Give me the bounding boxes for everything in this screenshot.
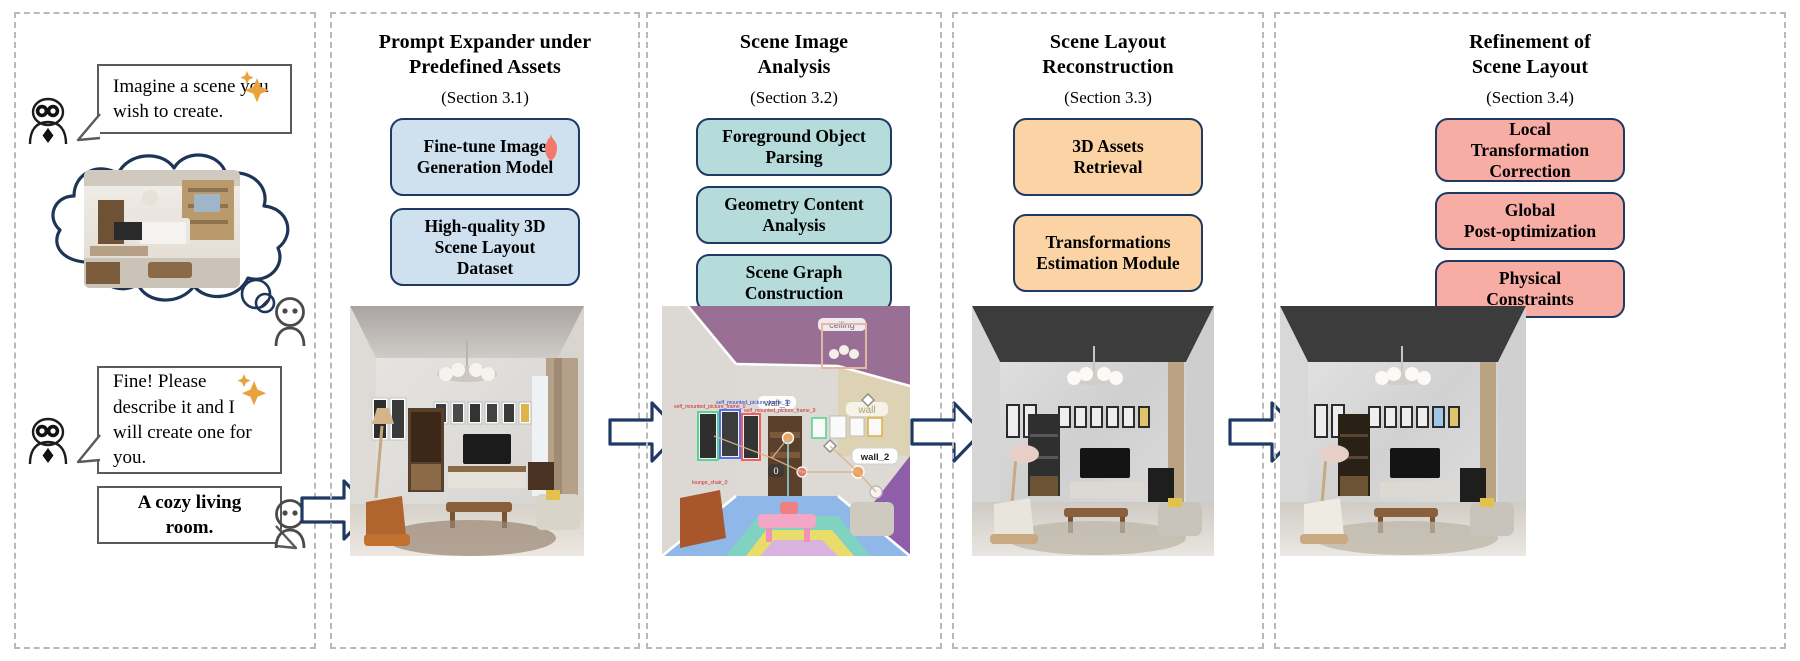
box-fine-tune-image-generation-model[interactable]: Fine-tune Image Generation Model	[390, 118, 580, 196]
box-label-line1: Transformations	[1045, 232, 1170, 252]
box-label-line2: Scene Layout	[435, 237, 536, 257]
box-local-transformation-correction[interactable]: Local Transformation Correction	[1435, 118, 1625, 182]
box-label-line1: Foreground Object	[722, 126, 866, 146]
box-label-line2: Retrieval	[1074, 157, 1143, 177]
panel-5-title: Refinement of Scene Layout	[1276, 30, 1784, 79]
panel-3-box-stack: Foreground Object Parsing Geometry Conte…	[648, 118, 940, 312]
box-label-line1: Fine-tune Image	[424, 136, 547, 156]
svg-text:wall: wall	[857, 405, 875, 416]
bubble-cozy-living-room-text: A cozy living room.	[113, 490, 266, 541]
panel-3-title: Scene Image Analysis	[648, 30, 940, 79]
sparkle-icon-1	[231, 69, 273, 109]
panel-prompt-expander: Prompt Expander under Predefined Assets …	[330, 12, 640, 649]
panel-2-title-line1: Prompt Expander under	[379, 31, 592, 53]
box-foreground-object-parsing[interactable]: Foreground Object Parsing	[696, 118, 892, 176]
bubble-cozy-living-room: A cozy living room.	[97, 486, 282, 544]
imagined-scene-thumbnail	[84, 170, 240, 288]
panel-4-title: Scene Layout Reconstruction	[954, 30, 1262, 79]
panel-5-title-line2: Scene Layout	[1472, 56, 1588, 78]
panel-3-title-line2: Analysis	[757, 56, 830, 78]
box-label-line1: Geometry Content	[724, 194, 863, 214]
box-label-line1: Scene Graph	[746, 262, 843, 282]
box-global-post-optimization[interactable]: Global Post-optimization	[1435, 192, 1625, 250]
assistant-bot-icon	[22, 86, 74, 148]
panel-5-box-stack: Local Transformation Correction Global P…	[1276, 118, 1784, 318]
assistant-bot-icon-2	[22, 406, 74, 468]
pipeline-figure: Imagine a scene you wish to create.	[0, 0, 1800, 661]
panel-2-box-stack: Fine-tune Image Generation Model High-qu…	[332, 118, 638, 286]
box-label-line1: Physical	[1499, 268, 1561, 288]
svg-text:0: 0	[773, 466, 778, 476]
svg-text:self_mounted_picture_frame_9: self_mounted_picture_frame_9	[744, 408, 816, 414]
box-label-line2: Parsing	[765, 147, 822, 167]
refined-scene-render	[1280, 306, 1526, 556]
box-geometry-content-analysis[interactable]: Geometry Content Analysis	[696, 186, 892, 244]
panel-4-box-stack: 3D Assets Retrieval Transformations Esti…	[954, 118, 1262, 292]
box-label-line1: Global	[1505, 200, 1556, 220]
box-transformations-estimation-module[interactable]: Transformations Estimation Module	[1013, 214, 1203, 292]
panel-scene-layout-reconstruction: Scene Layout Reconstruction (Section 3.3…	[952, 12, 1264, 649]
panel-5-section: (Section 3.4)	[1276, 88, 1784, 108]
box-high-quality-3d-scene-layout-dataset[interactable]: High-quality 3D Scene Layout Dataset	[390, 208, 580, 286]
panel-4-title-line1: Scene Layout	[1050, 31, 1166, 53]
bubble-tail-1	[74, 112, 104, 146]
user-person-icon-1	[268, 296, 312, 348]
panel-3-title-line1: Scene Image	[740, 31, 848, 53]
bubble-tail-2	[74, 432, 104, 468]
box-label-line2: Construction	[745, 283, 843, 303]
panel-2-title-line2: Predefined Assets	[409, 56, 561, 78]
box-label-line3: Correction	[1489, 161, 1570, 181]
panel-refinement-of-scene-layout: Refinement of Scene Layout (Section 3.4)…	[1274, 12, 1786, 649]
svg-text:wall_2: wall_2	[860, 452, 890, 463]
box-label-line2: Transformation	[1471, 140, 1589, 160]
panel-5-title-line1: Refinement of	[1469, 31, 1591, 53]
fire-icon	[540, 134, 562, 160]
box-label-line2: Generation Model	[417, 157, 554, 177]
box-scene-graph-construction[interactable]: Scene Graph Construction	[696, 254, 892, 312]
panel-scene-image-analysis: Scene Image Analysis (Section 3.2) Foreg…	[646, 12, 942, 649]
reconstructed-layout-render	[972, 306, 1214, 556]
panel-3-section: (Section 3.2)	[648, 88, 940, 108]
sparkle-icon-2	[228, 372, 270, 412]
panel-4-title-line2: Reconstruction	[1042, 56, 1173, 78]
box-3d-assets-retrieval[interactable]: 3D Assets Retrieval	[1013, 118, 1203, 196]
generated-scene-render	[350, 306, 584, 556]
box-label-line1: Local	[1509, 119, 1551, 139]
svg-text:lounge_chair_0: lounge_chair_0	[692, 480, 728, 486]
box-label-line2: Estimation Module	[1036, 253, 1179, 273]
panel-user-intent: Imagine a scene you wish to create.	[14, 12, 316, 649]
box-label-line2: Post-optimization	[1464, 221, 1596, 241]
svg-text:self_mounted_picture_frame_10: self_mounted_picture_frame_10	[716, 400, 791, 406]
box-label-line3: Dataset	[457, 258, 513, 278]
box-label-line1: 3D Assets	[1072, 136, 1143, 156]
panel-2-title: Prompt Expander under Predefined Assets	[332, 30, 638, 79]
panel-4-section: (Section 3.3)	[954, 88, 1262, 108]
annotated-scene-analysis-image: ceiling wall_1 wall wall_2	[662, 306, 910, 556]
panel-2-section: (Section 3.1)	[332, 88, 638, 108]
box-label-line2: Analysis	[762, 215, 825, 235]
box-label-line1: High-quality 3D	[424, 216, 545, 236]
